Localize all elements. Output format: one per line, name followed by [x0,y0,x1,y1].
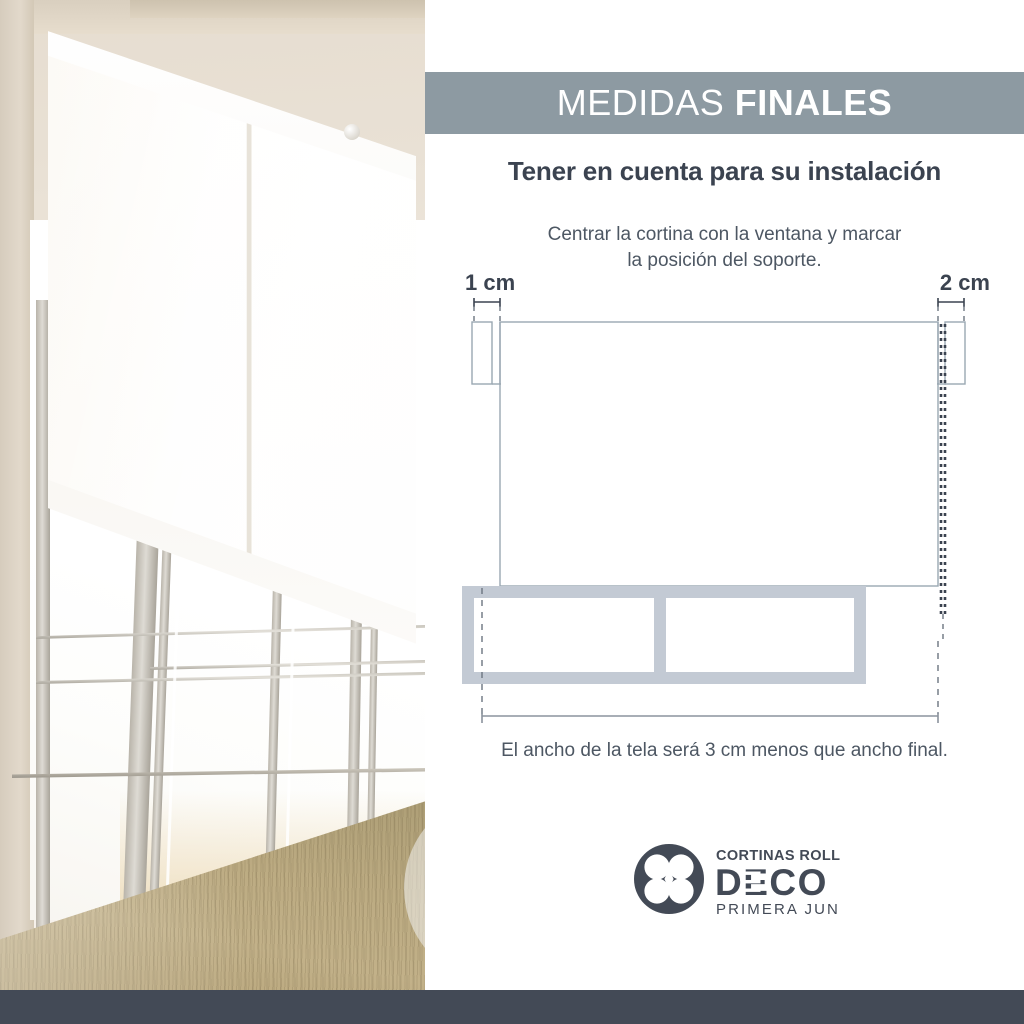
ceiling-soffit [130,0,425,18]
roller-blind-fabric [500,322,938,586]
page-title-light: MEDIDAS [557,82,725,123]
window-frame [462,586,866,684]
page-title: MEDIDAS FINALES [557,82,893,124]
fabric-width-caption: El ancho de la tela será 3 cm menos que … [425,740,1024,762]
left-dimension-bracket [474,298,500,307]
page-title-bold: FINALES [735,82,893,123]
right-dimension-label: 2 cm [940,270,990,296]
svg-text:DECO: DECO [715,862,828,903]
frame-mullion-left [36,300,50,990]
logo-main-text: DECO [715,862,828,903]
left-wall-column [0,0,34,990]
logo-bottom-text: PRIMERA JUNTA [716,901,840,918]
poster-canvas: MEDIDAS FINALES Tener en cuenta para su … [0,0,1024,1024]
subtitle: Tener en cuenta para su instalación [425,156,1024,187]
left-mounting-bracket [472,322,501,384]
installation-diagram [425,296,1024,726]
brand-logo: CORTINAS ROLLER DECO PRIMERA JUNTA [630,840,840,918]
clover-circle-icon [634,844,704,914]
info-panel: MEDIDAS FINALES Tener en cuenta para su … [425,0,1024,990]
width-extension-lines [482,588,938,714]
lead-text: Centrar la cortina con la ventana y marc… [425,222,1024,274]
interior-photo [0,0,425,990]
right-dimension-bracket [938,298,964,307]
left-dimension-label: 1 cm [465,270,515,296]
final-width-dimension-line [482,712,938,723]
lead-line-1: Centrar la cortina con la ventana y marc… [425,222,1024,248]
header-bar: MEDIDAS FINALES [425,72,1024,134]
control-chain [941,324,945,614]
footer-bar [0,990,1024,1024]
blind-roller-endcap [344,124,360,140]
